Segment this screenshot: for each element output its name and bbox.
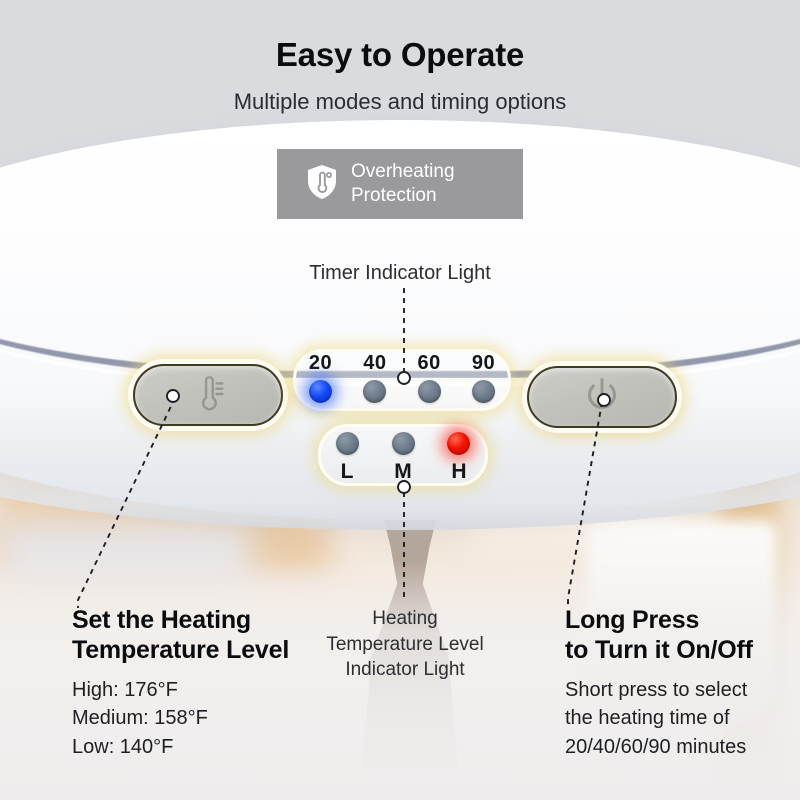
heating-indicator-line-2: Temperature Level <box>300 632 510 658</box>
power-body-line-3: 20/40/60/90 minutes <box>565 736 746 758</box>
temperature-info-block: Set the Heating Temperature Level High: … <box>72 606 317 761</box>
overheating-protection-badge: Overheating Protection <box>277 149 523 219</box>
power-info-block: Long Press to Turn it On/Off Short press… <box>565 606 790 761</box>
temperature-heading-line-2: Temperature Level <box>72 636 289 664</box>
temperature-row-medium: Medium: 158°F <box>72 707 208 729</box>
temperature-heading-line-1: Set the Heating <box>72 606 251 634</box>
heating-led-high[interactable] <box>447 432 470 455</box>
badge-text: Overheating Protection <box>351 160 455 208</box>
timer-led-60[interactable] <box>418 380 441 403</box>
scene: 20 40 60 90 L M H <box>0 0 800 800</box>
timer-led-90[interactable] <box>472 380 495 403</box>
heating-label-l: L <box>332 460 362 484</box>
power-body-line-1: Short press to select <box>565 679 747 701</box>
timer-label-40: 40 <box>357 352 392 375</box>
power-heading-line-2: to Turn it On/Off <box>565 636 753 664</box>
timer-labels: 20 40 60 90 <box>301 352 503 375</box>
thermometer-icon <box>185 370 231 421</box>
heating-leds <box>330 432 476 455</box>
temperature-row-high: High: 176°F <box>72 679 178 701</box>
timer-label-20: 20 <box>303 352 338 375</box>
shield-thermometer-icon <box>305 163 339 206</box>
power-info-heading: Long Press to Turn it On/Off <box>565 606 790 665</box>
temperature-info-heading: Set the Heating Temperature Level <box>72 606 317 665</box>
timer-indicator-label: Timer Indicator Light <box>0 262 800 285</box>
timer-label-90: 90 <box>466 352 501 375</box>
heating-led-low[interactable] <box>336 432 359 455</box>
temperature-info-body: High: 176°F Medium: 158°F Low: 140°F <box>72 676 317 761</box>
power-body-line-2: the heating time of <box>565 707 730 729</box>
heating-labels: L M H <box>330 460 476 484</box>
power-info-body: Short press to select the heating time o… <box>565 676 790 761</box>
timer-label-60: 60 <box>412 352 447 375</box>
power-icon <box>579 372 625 423</box>
badge-line-1: Overheating <box>351 160 455 184</box>
timer-leds <box>301 380 503 403</box>
heating-label-m: M <box>388 460 418 484</box>
temperature-button[interactable] <box>133 364 283 426</box>
power-heading-line-1: Long Press <box>565 606 699 634</box>
timer-led-20[interactable] <box>309 380 332 403</box>
heating-indicator-line-1: Heating <box>300 606 510 632</box>
heating-led-medium[interactable] <box>392 432 415 455</box>
badge-line-2: Protection <box>351 184 455 208</box>
page-title: Easy to Operate <box>0 36 800 74</box>
heating-label-h: H <box>444 460 474 484</box>
timer-led-40[interactable] <box>363 380 386 403</box>
page-subtitle: Multiple modes and timing options <box>0 89 800 115</box>
power-button[interactable] <box>527 366 677 428</box>
heating-indicator-label: Heating Temperature Level Indicator Ligh… <box>300 606 510 683</box>
heating-indicator-line-3: Indicator Light <box>300 657 510 683</box>
temperature-row-low: Low: 140°F <box>72 736 173 758</box>
